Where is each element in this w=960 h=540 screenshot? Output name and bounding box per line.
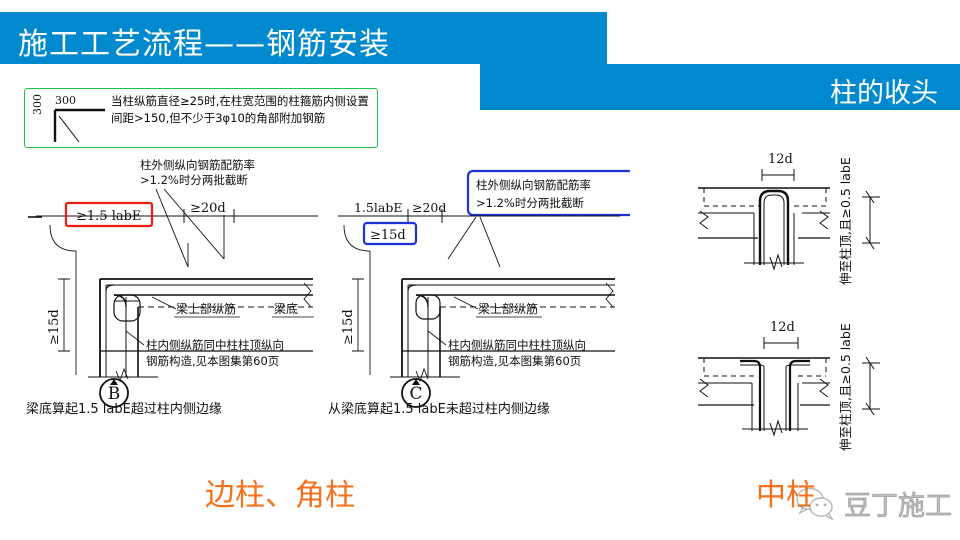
note-c-line1: 柱内侧纵筋同中柱柱顶纵向 bbox=[448, 338, 586, 352]
note-c-line2: 钢筋构造,见本图集第60页 bbox=[448, 354, 581, 368]
callout-c-line1: 柱外侧纵向钢筋配筋率 bbox=[476, 178, 591, 192]
dim-lab-c: 1.5labE bbox=[354, 200, 402, 215]
caption-left-columns: 边柱、角柱 bbox=[205, 470, 355, 514]
callout-c-line2: >1.2%时分两批截断 bbox=[476, 196, 584, 210]
dim-lab-b: ≥1.5 labE bbox=[76, 209, 141, 224]
diagram-edge-corner-column-b: 柱外侧纵向钢筋配筋率 >1.2%时分两批截断 ≥1.5 labE ≥20d bbox=[28, 155, 328, 420]
page-subtitle: 柱的收头 bbox=[830, 71, 938, 110]
watermark: 豆丁施工 bbox=[795, 480, 952, 526]
dim-12d-rb: 12d bbox=[770, 320, 795, 335]
slide-root: 施工工艺流程——钢筋安装 柱的收头 300 300 当柱纵筋直径≥25时,在柱宽… bbox=[0, 0, 960, 540]
callout-b-line2: >1.2%时分两批截断 bbox=[140, 173, 248, 187]
note-dim-top: 300 bbox=[55, 94, 76, 107]
callout-b-line1: 柱外侧纵向钢筋配筋率 bbox=[140, 158, 255, 172]
header-banner-main: 施工工艺流程——钢筋安装 bbox=[0, 12, 607, 64]
vertical-note-rt: 伸至柱顶,且≥0.5 labE bbox=[838, 157, 853, 285]
note-corner-sketch bbox=[53, 108, 107, 144]
header-banner-sub: 柱的收头 bbox=[480, 64, 960, 110]
page-title: 施工工艺流程——钢筋安装 bbox=[18, 19, 390, 63]
vertical-note-rb: 伸至柱顶,且≥0.5 labE bbox=[838, 323, 853, 451]
diagram-middle-column-bottom: 12d 伸至柱顶,且≥0.5 labE bbox=[690, 305, 940, 460]
note-b-line1: 柱内侧纵筋同中柱柱顶纵向 bbox=[146, 338, 284, 352]
dim-12d-rt: 12d bbox=[768, 152, 793, 167]
watermark-text: 豆丁施工 bbox=[844, 484, 952, 523]
note-b-line2: 钢筋构造,见本图集第60页 bbox=[146, 354, 279, 368]
label-beam-top-c: 梁上部纵筋 bbox=[478, 301, 538, 316]
caption-detail-b: 梁底算起1.5 labE超过柱内侧边缘 bbox=[26, 398, 222, 417]
wechat-icon bbox=[795, 486, 837, 520]
label-beam-bottom-b: 梁底 bbox=[274, 301, 298, 316]
dim-20d-c: ≥20d bbox=[412, 200, 446, 215]
note-dim-left: 300 bbox=[31, 94, 44, 115]
note-text: 当柱纵筋直径≥25时,在柱宽范围的柱箍筋内侧设置间距>150,但不少于3φ10的… bbox=[111, 93, 369, 126]
note-box: 300 300 当柱纵筋直径≥25时,在柱宽范围的柱箍筋内侧设置间距>150,但… bbox=[24, 88, 378, 148]
caption-detail-c: 从梁底算起1.5 labE未超过柱内侧边缘 bbox=[328, 398, 550, 417]
diagram-edge-corner-column-c: 柱外侧纵向钢筋配筋率 >1.2%时分两批截断 1.5labE ≥20d ≥15d bbox=[330, 155, 630, 420]
dim-15d-box-c: ≥15d bbox=[370, 228, 406, 243]
dim-15d-vertical-b: ≥15d bbox=[47, 309, 62, 345]
label-beam-top-b: 梁上部纵筋 bbox=[176, 301, 236, 316]
dim-20d-b: ≥20d bbox=[190, 201, 226, 216]
dim-15d-vertical-c: ≥15d bbox=[341, 309, 356, 345]
diagram-middle-column-top: 12d bbox=[690, 145, 940, 300]
